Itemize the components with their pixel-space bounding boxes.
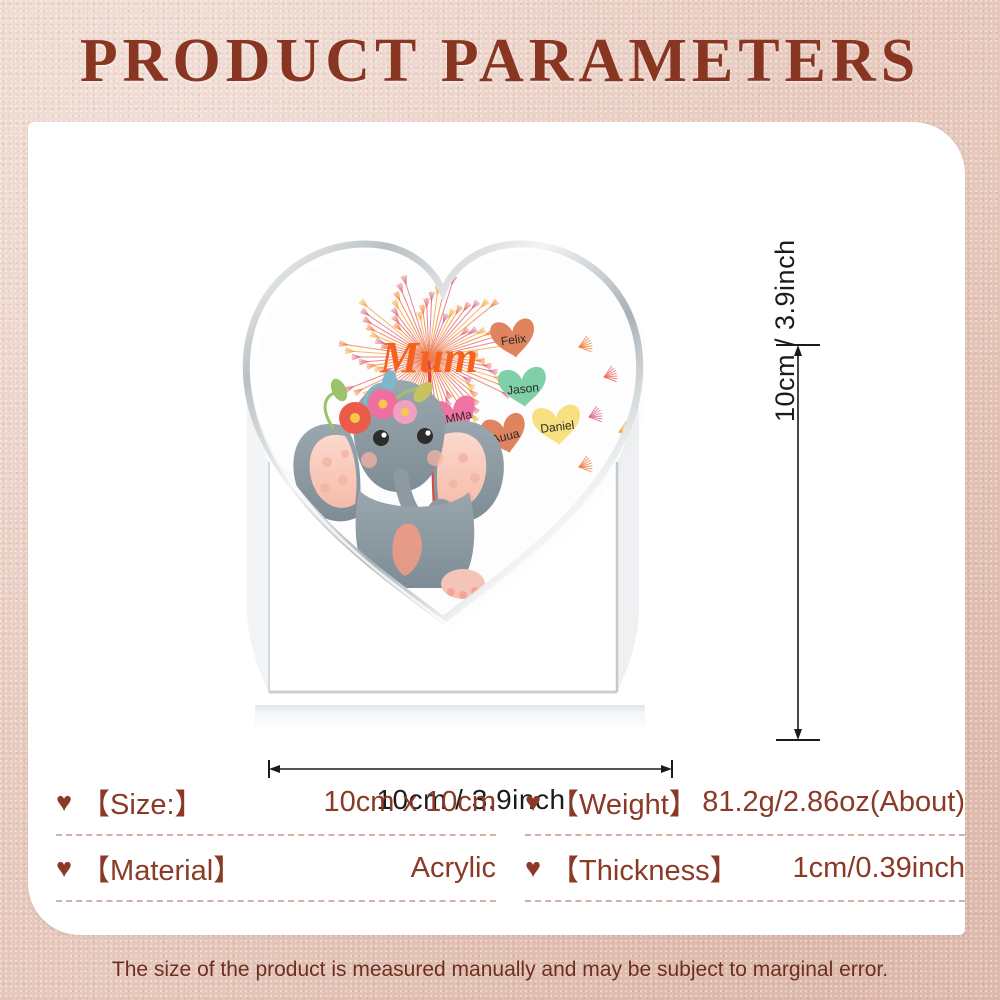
measurement-disclaimer: The size of the product is measured manu… — [0, 958, 1000, 982]
heart-bullet-icon: ♥ — [525, 855, 541, 882]
spec-row-thickness: ♥ 【Thickness】 1cm/0.39inch — [525, 836, 965, 900]
page-title: PRODUCT PARAMETERS — [0, 26, 1000, 97]
spec-row-size: ♥ 【Size:】 10cm x 10cm — [56, 770, 496, 834]
heart-bullet-icon: ♥ — [525, 789, 541, 816]
spec-separator — [525, 900, 965, 902]
acrylic-bevel-edge — [233, 222, 663, 727]
spec-label-thickness: 【Thickness】 — [550, 847, 739, 889]
acrylic-heart-product: Mum Felix Jason EMMa — [233, 222, 663, 727]
spec-value-weight: 81.2g/2.86oz(About) — [698, 786, 965, 819]
product-stage: Mum Felix Jason EMMa — [28, 122, 965, 762]
heart-bullet-icon: ♥ — [56, 855, 72, 882]
content-card: Mum Felix Jason EMMa — [28, 122, 965, 935]
spec-label-size: 【Size:】 — [81, 781, 203, 823]
spec-table: ♥ 【Size:】 10cm x 10cm ♥ 【Material】 Acryl… — [28, 770, 965, 935]
spec-separator — [56, 900, 496, 902]
spec-value-thickness: 1cm/0.39inch — [739, 852, 965, 885]
spec-label-material: 【Material】 — [81, 847, 242, 889]
vertical-dimension-label: 10cm / 3.9inch — [770, 172, 801, 422]
spec-row-material: ♥ 【Material】 Acrylic — [56, 836, 496, 900]
spec-row-weight: ♥ 【Weight】 81.2g/2.86oz(About) — [525, 770, 965, 834]
spec-value-material: Acrylic — [242, 852, 496, 885]
heart-bullet-icon: ♥ — [56, 789, 72, 816]
spec-column-left: ♥ 【Size:】 10cm x 10cm ♥ 【Material】 Acryl… — [56, 770, 496, 902]
spec-value-size: 10cm x 10cm — [204, 786, 496, 819]
spec-label-weight: 【Weight】 — [550, 781, 698, 823]
spec-column-right: ♥ 【Weight】 81.2g/2.86oz(About) ♥ 【Thickn… — [525, 770, 965, 902]
